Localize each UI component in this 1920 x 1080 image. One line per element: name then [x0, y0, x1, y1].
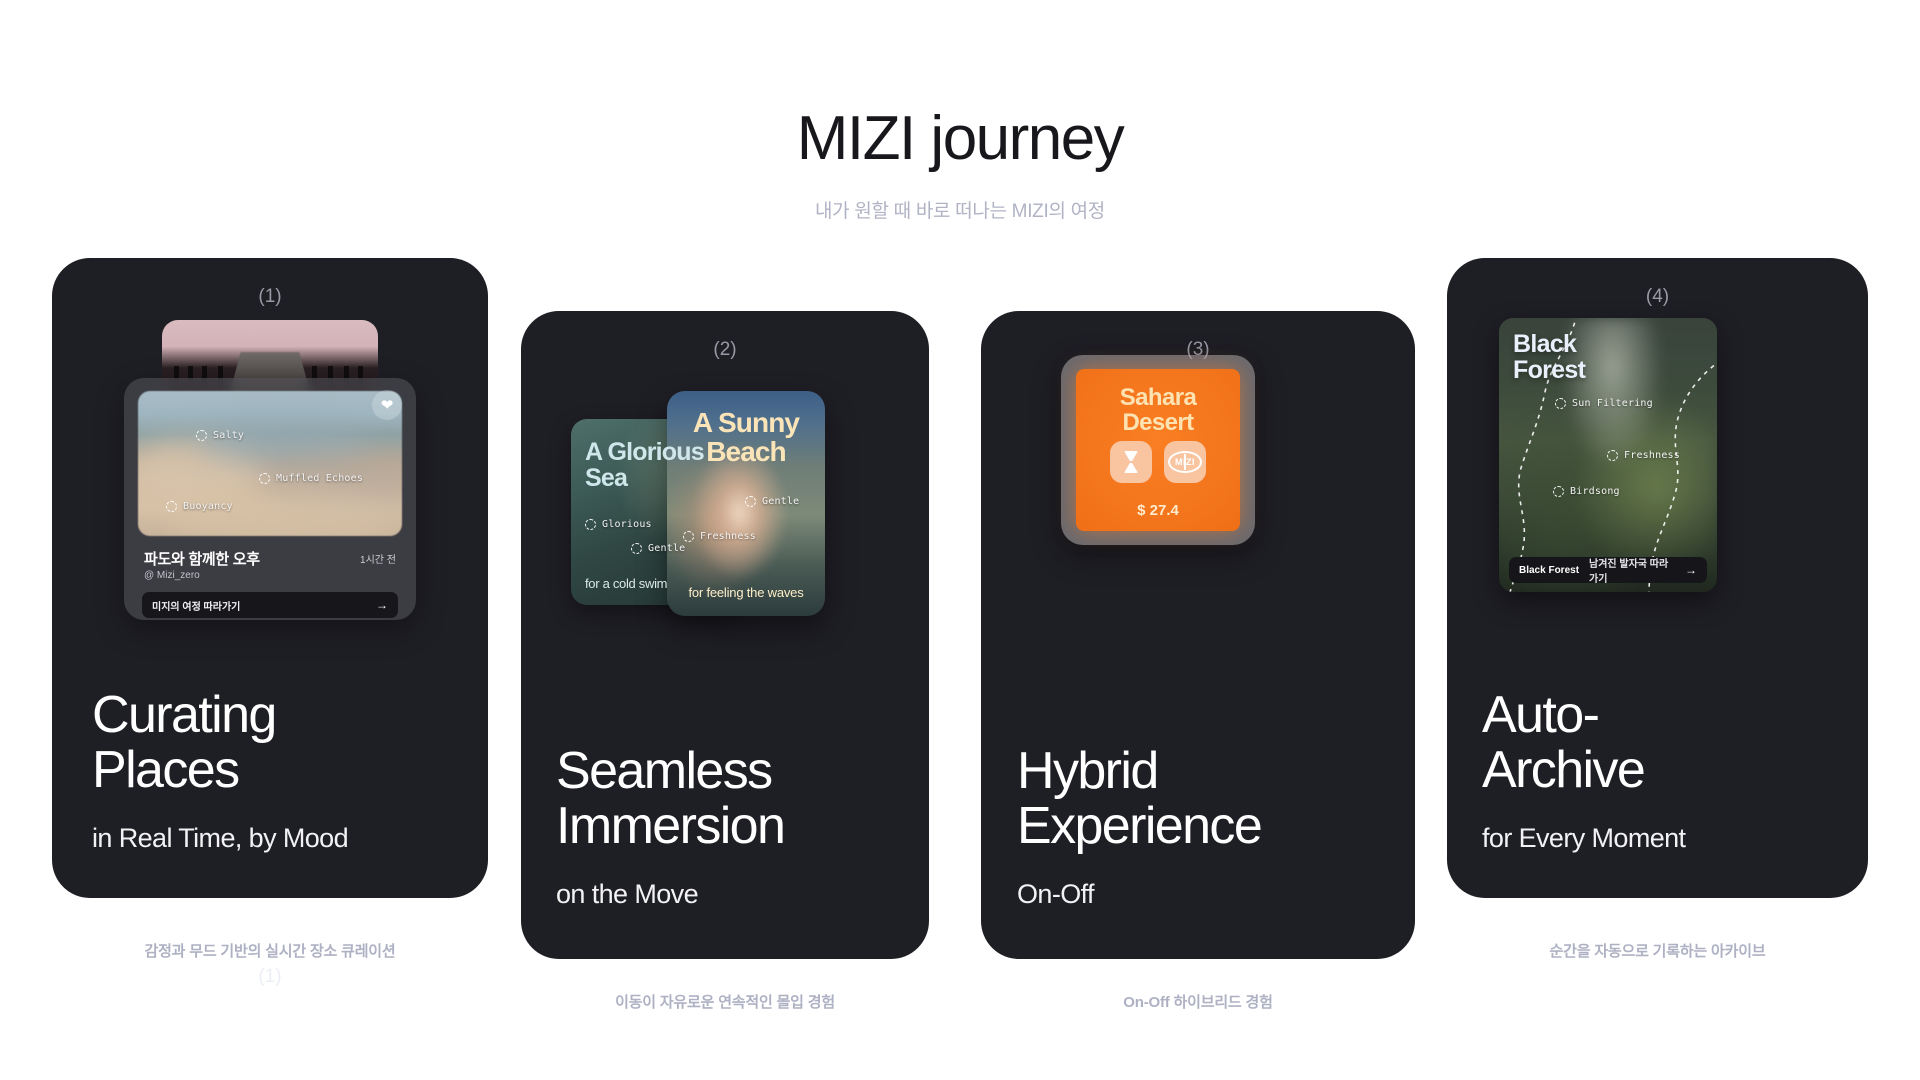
mood-tag-label: Freshness: [700, 531, 756, 542]
mood-tag: Buoyancy: [166, 501, 233, 512]
card-caption: On-Off 하이브리드 경험: [981, 991, 1415, 1012]
card-ghost-number: (1): [52, 966, 488, 988]
mood-tag-label: Birdsong: [1570, 486, 1620, 497]
tile-title: Sahara Desert: [1076, 385, 1240, 435]
feature-card-hybrid-experience[interactable]: (3) Sahara Desert MIZI $ 27.4 Hybrid Exp…: [981, 311, 1415, 959]
phone-post-mockup: ❤ Salty Muffled Echoes Buoyancy 파도와 함께한 …: [124, 320, 416, 620]
mood-tag-label: Freshness: [1624, 450, 1680, 461]
archive-title: Black Forest: [1513, 332, 1585, 383]
mood-tag-label: Salty: [213, 430, 244, 441]
card-number-badge: (1): [52, 286, 488, 308]
tag-dot-icon: [683, 531, 694, 542]
card-caption: 이동이 자유로운 연속적인 몰입 경험: [521, 991, 929, 1012]
card-subheading: On-Off: [1017, 879, 1094, 910]
feature-card-seamless-immersion[interactable]: (2) A Glorious Sea Glorious Gentle for a…: [521, 311, 929, 959]
card-number-badge: (2): [521, 339, 929, 361]
heart-icon[interactable]: ❤: [372, 390, 402, 420]
post-timestamp: 1시간 전: [360, 551, 396, 566]
tag-dot-icon: [196, 430, 207, 441]
mood-tag: Sun Filtering: [1555, 398, 1653, 409]
mood-card-title: A Sunny Beach: [667, 409, 825, 466]
follow-footprints-button[interactable]: Black Forest 남겨진 발자국 따라가기 →: [1509, 557, 1707, 583]
tag-dot-icon: [166, 501, 177, 512]
mood-tag: Gentle: [745, 496, 799, 507]
tag-dot-icon: [1607, 450, 1618, 461]
tag-dot-icon: [631, 543, 642, 554]
mizi-logo-icon[interactable]: MIZI: [1164, 441, 1206, 483]
mood-tag: Freshness: [1607, 450, 1680, 461]
stacked-mood-cards: A Glorious Sea Glorious Gentle for a col…: [571, 391, 881, 621]
mood-tag: Salty: [196, 430, 244, 441]
feature-card-auto-archive[interactable]: (4) Black Forest Sun Filtering Freshness…: [1447, 258, 1868, 898]
mood-tag: Gentle: [631, 543, 685, 554]
archive-place-name: Black Forest: [1519, 565, 1579, 576]
tag-dot-icon: [259, 473, 270, 484]
mizi-logo-text: MIZI: [1175, 457, 1195, 467]
mood-tag: Freshness: [683, 531, 756, 542]
mood-tag-label: Glorious: [602, 519, 652, 530]
page-root: MIZI journey 내가 원할 때 바로 떠나는 MIZI의 여정 (1): [0, 0, 1920, 1080]
follow-footprints-label: 남겨진 발자국 따라가기: [1589, 555, 1675, 585]
post-photo: [138, 391, 402, 536]
page-subtitle: 내가 원할 때 바로 떠나는 MIZI의 여정: [0, 196, 1920, 223]
card-subheading: in Real Time, by Mood: [92, 823, 348, 854]
card-heading: Curating Places: [92, 688, 276, 797]
arrow-right-icon: →: [1685, 563, 1697, 577]
arrow-right-icon: →: [376, 598, 388, 612]
feature-card-curating-places[interactable]: (1) ❤: [52, 258, 488, 898]
mood-tag-label: Buoyancy: [183, 501, 233, 512]
black-forest-archive-card[interactable]: Black Forest Sun Filtering Freshness Bir…: [1499, 318, 1717, 592]
card-caption: 감정과 무드 기반의 실시간 장소 큐레이션: [52, 940, 488, 961]
tag-dot-icon: [1555, 398, 1566, 409]
tag-dot-icon: [585, 519, 596, 530]
sahara-desert-tile[interactable]: Sahara Desert MIZI $ 27.4: [1076, 369, 1240, 531]
mood-card-sunny-beach[interactable]: A Sunny Beach Gentle Freshness for feeli…: [667, 391, 825, 616]
mood-tag: Glorious: [585, 519, 652, 530]
post-card-panel[interactable]: ❤ Salty Muffled Echoes Buoyancy 파도와 함께한 …: [124, 378, 416, 620]
sahara-tile-frame: Sahara Desert MIZI $ 27.4: [1061, 355, 1255, 545]
follow-journey-label: 미지의 여정 따라가기: [152, 598, 240, 613]
mood-tag-label: Gentle: [648, 543, 685, 554]
card-heading: Auto- Archive: [1482, 688, 1644, 797]
mood-card-footer: for feeling the waves: [667, 585, 825, 600]
post-title: 파도와 함께한 오후: [144, 548, 260, 569]
tag-dot-icon: [1553, 486, 1564, 497]
card-subheading: for Every Moment: [1482, 823, 1685, 854]
page-title: MIZI journey: [0, 108, 1920, 170]
hourglass-icon[interactable]: [1110, 441, 1152, 483]
tile-price: $ 27.4: [1076, 502, 1240, 519]
follow-journey-button[interactable]: 미지의 여정 따라가기 →: [142, 592, 398, 618]
mood-tag: Muffled Echoes: [259, 473, 363, 484]
mood-tag-label: Muffled Echoes: [276, 473, 363, 484]
card-heading: Seamless Immersion: [556, 744, 784, 853]
card-caption: 순간을 자동으로 기록하는 아카이브: [1447, 940, 1868, 961]
mood-tag-label: Gentle: [762, 496, 799, 507]
mood-card-footer: for a cold swim: [585, 576, 667, 591]
mood-tag: Birdsong: [1553, 486, 1620, 497]
card-number-badge: (4): [1447, 286, 1868, 308]
mood-tag-label: Sun Filtering: [1572, 398, 1653, 409]
card-subheading: on the Move: [556, 879, 698, 910]
tile-icon-row: MIZI: [1076, 441, 1240, 483]
post-author: @ Mizi_zero: [144, 570, 200, 581]
card-heading: Hybrid Experience: [1017, 744, 1261, 853]
tag-dot-icon: [745, 496, 756, 507]
